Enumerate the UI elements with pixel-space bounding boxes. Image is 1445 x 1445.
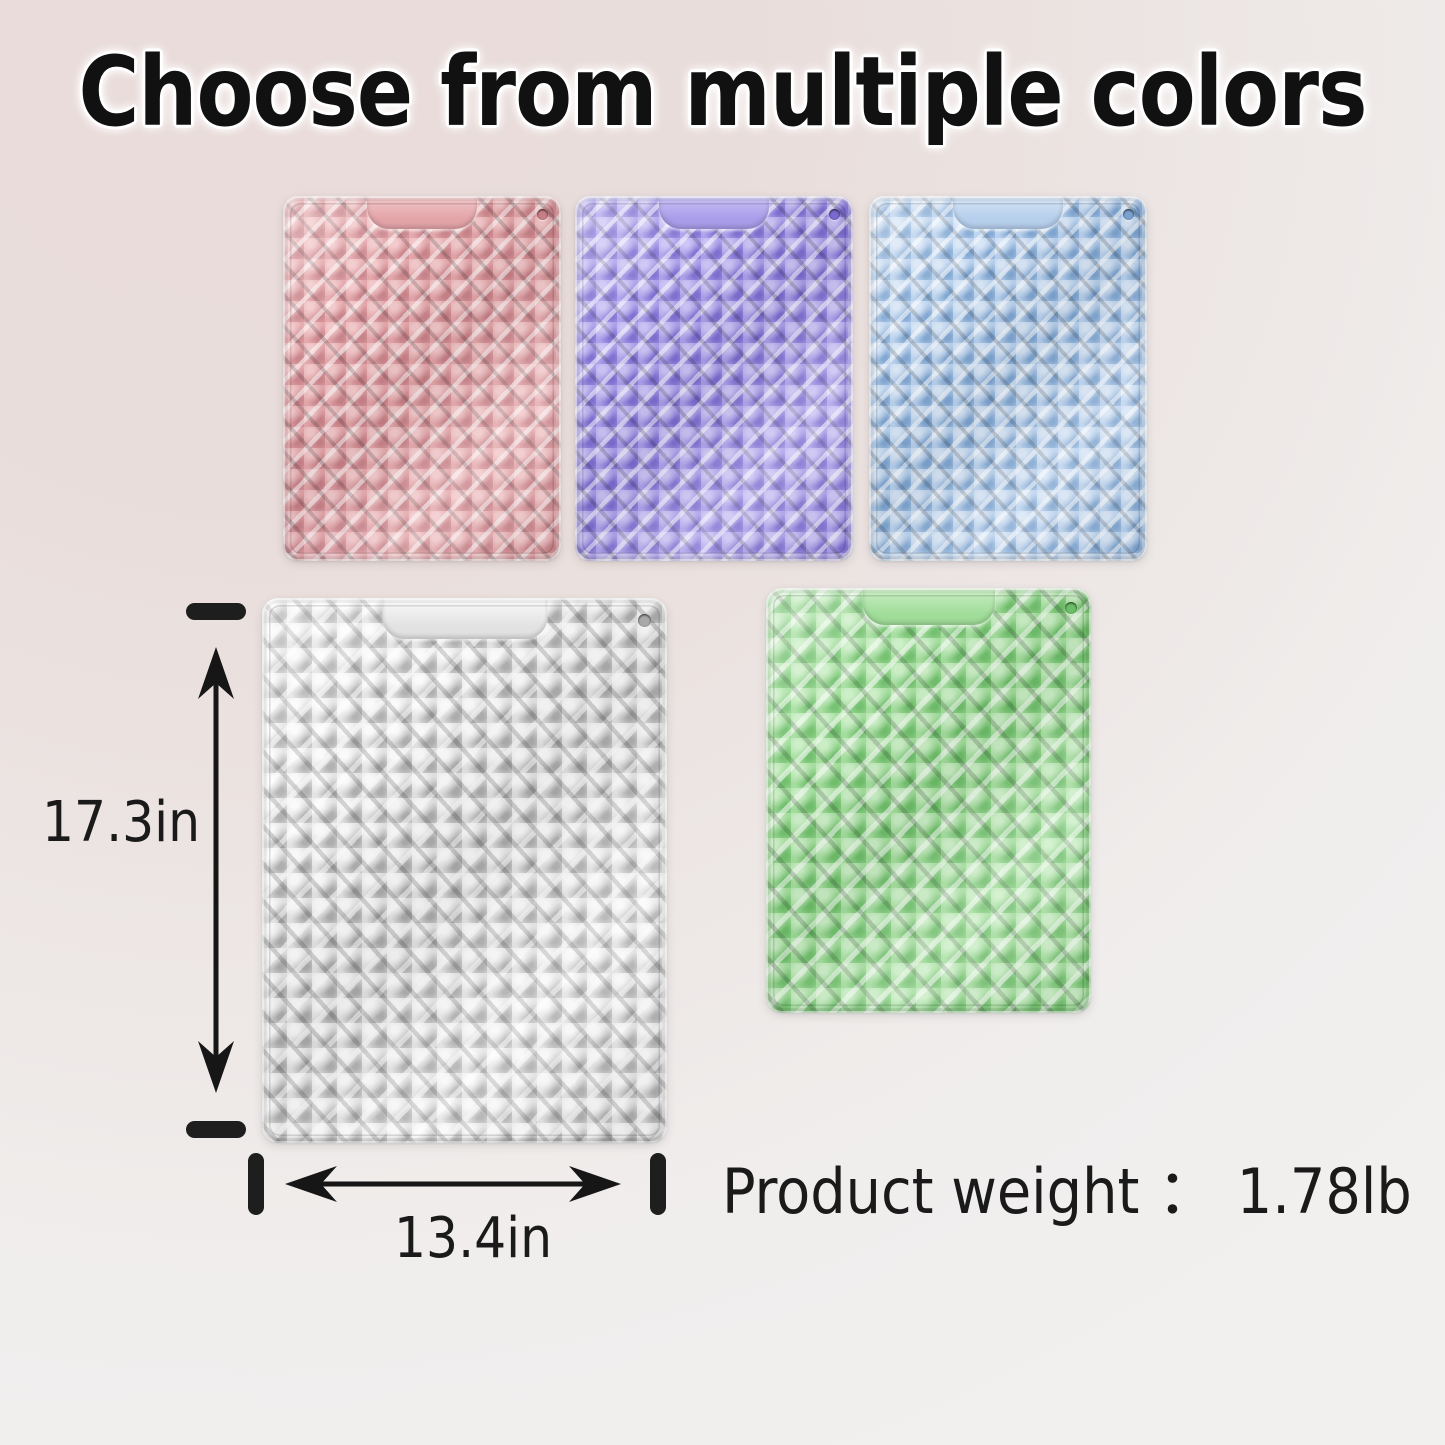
dimension-tick-bottom bbox=[186, 1121, 246, 1138]
infographic-canvas: Choose from multiple colors bbox=[0, 0, 1445, 1445]
page-title: Choose from multiple colors bbox=[29, 44, 1416, 140]
product-swatch-purple[interactable] bbox=[575, 196, 853, 561]
dimension-width-label: 13.4in bbox=[394, 1206, 552, 1271]
dimension-tick-left bbox=[248, 1153, 264, 1215]
dimension-height-label: 17.3in bbox=[42, 790, 200, 855]
dimension-tick-top bbox=[186, 603, 246, 620]
dimension-arrow-horizontal bbox=[283, 1158, 623, 1210]
product-swatch-green[interactable] bbox=[766, 588, 1091, 1013]
product-swatch-pink[interactable] bbox=[283, 196, 561, 561]
product-weight-text: Product weight ： 1.78lb bbox=[722, 1141, 1412, 1231]
dimension-tick-right bbox=[650, 1153, 666, 1215]
product-swatch-blue[interactable] bbox=[869, 196, 1147, 561]
mat-texture-pink bbox=[283, 196, 561, 561]
mat-texture-green bbox=[766, 588, 1091, 1013]
mat-texture-purple bbox=[575, 196, 853, 561]
mat-texture-blue bbox=[869, 196, 1147, 561]
product-swatch-gray[interactable] bbox=[262, 598, 667, 1143]
mat-texture-gray bbox=[262, 598, 667, 1143]
dimension-arrow-vertical bbox=[190, 645, 242, 1095]
